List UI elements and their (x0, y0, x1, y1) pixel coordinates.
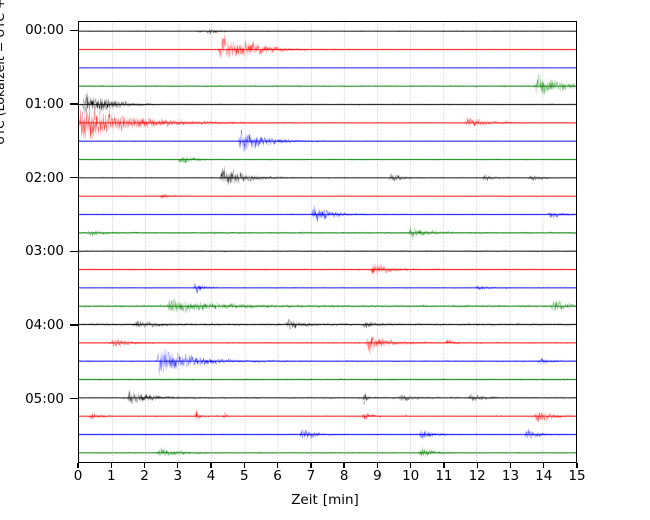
y-axis-tick-mark (70, 103, 78, 104)
x-axis-tick-label: 7 (307, 468, 316, 484)
x-axis-tick-label: 6 (273, 468, 282, 484)
y-axis-tick-label: 00:00 (25, 22, 64, 38)
y-axis-tick-mark (70, 324, 78, 325)
y-axis-label: UTC (Lokalzeit = UTC + 02:00) (0, 0, 7, 145)
y-axis-tick-label: 02:00 (25, 170, 64, 186)
x-axis-tick-label: 14 (535, 468, 552, 484)
x-axis-tick-label: 0 (74, 468, 83, 484)
y-axis-tick-label: 04:00 (25, 317, 64, 333)
x-axis-tick-label: 1 (107, 468, 116, 484)
y-axis-tick-mark (70, 30, 78, 31)
y-axis-tick-label: 01:00 (25, 96, 64, 112)
x-axis-tick-label: 11 (435, 468, 452, 484)
y-axis-tick-mark (70, 398, 78, 399)
x-axis-tick-label: 10 (402, 468, 419, 484)
x-axis-tick-label: 3 (174, 468, 183, 484)
y-axis-tick-label: 03:00 (25, 243, 64, 259)
x-axis-tick-label: 15 (568, 468, 585, 484)
x-axis-tick-label: 12 (469, 468, 486, 484)
x-axis-label: Zeit[min] (0, 492, 650, 508)
x-axis-tick-label: 8 (340, 468, 349, 484)
plot-area (78, 21, 577, 463)
y-axis-tick-mark (70, 251, 78, 252)
x-axis-tick-label: 2 (140, 468, 149, 484)
y-axis-tick-label: 05:00 (25, 391, 64, 407)
seismogram-traces-canvas (79, 22, 576, 462)
seismogram-figure: UTC (Lokalzeit = UTC + 02:00) 00:0001:00… (0, 0, 650, 520)
x-axis-tick-label: 4 (207, 468, 216, 484)
x-axis-tick-label: 13 (502, 468, 519, 484)
x-axis-tick-label: 9 (373, 468, 382, 484)
y-axis-tick-mark (70, 177, 78, 178)
x-axis-tick-label: 5 (240, 468, 249, 484)
